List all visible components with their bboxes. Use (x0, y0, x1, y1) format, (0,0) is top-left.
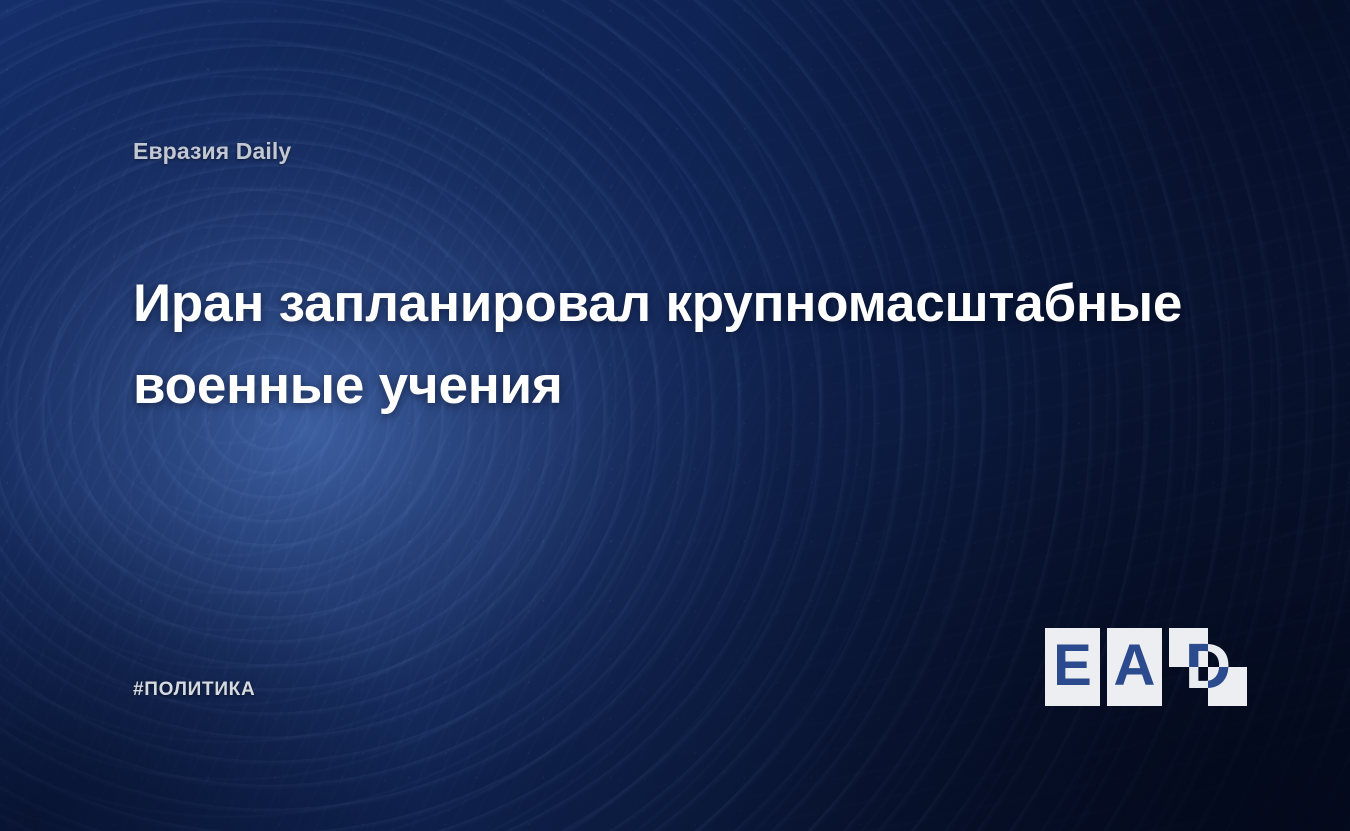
logo-letter-a: A (1107, 628, 1162, 706)
logo-tile-e: E (1045, 628, 1100, 706)
logo-letter-e: E (1045, 628, 1100, 706)
logo-tile-d: D D (1169, 628, 1247, 706)
logo-tile-a: A (1107, 628, 1162, 706)
social-share-card: Евразия Daily Иран запланировал крупнома… (0, 0, 1350, 831)
article-headline: Иран запланировал крупномасштабные военн… (133, 263, 1223, 427)
brand-name: Евразия Daily (133, 138, 291, 165)
ead-logo: E A D D (1045, 628, 1225, 706)
category-hashtag: #ПОЛИТИКА (133, 679, 255, 701)
card-content: Евразия Daily Иран запланировал крупнома… (0, 0, 1350, 831)
